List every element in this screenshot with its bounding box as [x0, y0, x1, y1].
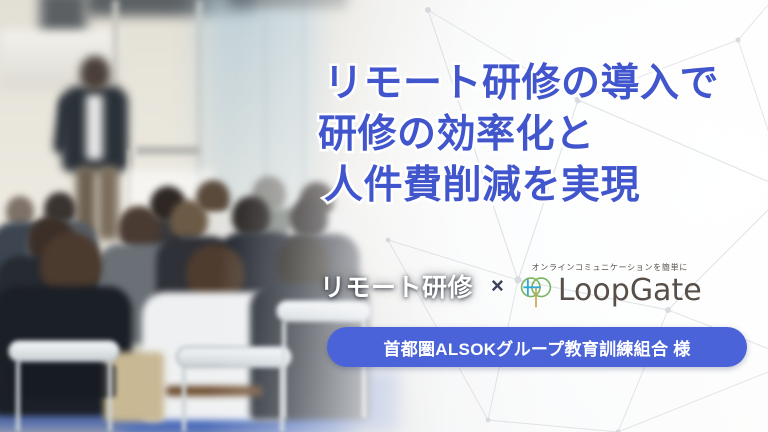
headline-line-2: 研修の効率化と	[312, 109, 758, 160]
headline-line-3: 人件費削減を実現	[312, 160, 758, 211]
headline-line-1: リモート研修の導入で	[312, 58, 758, 109]
banner-image: リモート研修の導入で 研修の効率化と 人件費削減を実現 リモート研修 × オンラ…	[0, 0, 768, 432]
brand-row: リモート研修 × オンラインコミュニケーションを簡単に LoopGate	[316, 258, 756, 314]
multiply-icon: ×	[491, 275, 504, 297]
headline-block: リモート研修の導入で 研修の効率化と 人件費削減を実現	[312, 58, 758, 211]
loopgate-lockup: LoopGate	[518, 274, 702, 308]
customer-badge: 首都圏ALSOKグループ教育訓練組合 様	[327, 327, 747, 367]
loopgate-logo: オンラインコミュニケーションを簡単に LoopGate	[518, 262, 702, 308]
loopgate-tagline: オンラインコミュニケーションを簡単に	[532, 262, 688, 273]
service-name-label: リモート研修	[320, 268, 473, 304]
customer-badge-label: 首都圏ALSOKグループ教育訓練組合 様	[383, 335, 690, 360]
loopgate-wordmark: LoopGate	[558, 276, 702, 306]
loopgate-logo-icon	[518, 274, 554, 308]
